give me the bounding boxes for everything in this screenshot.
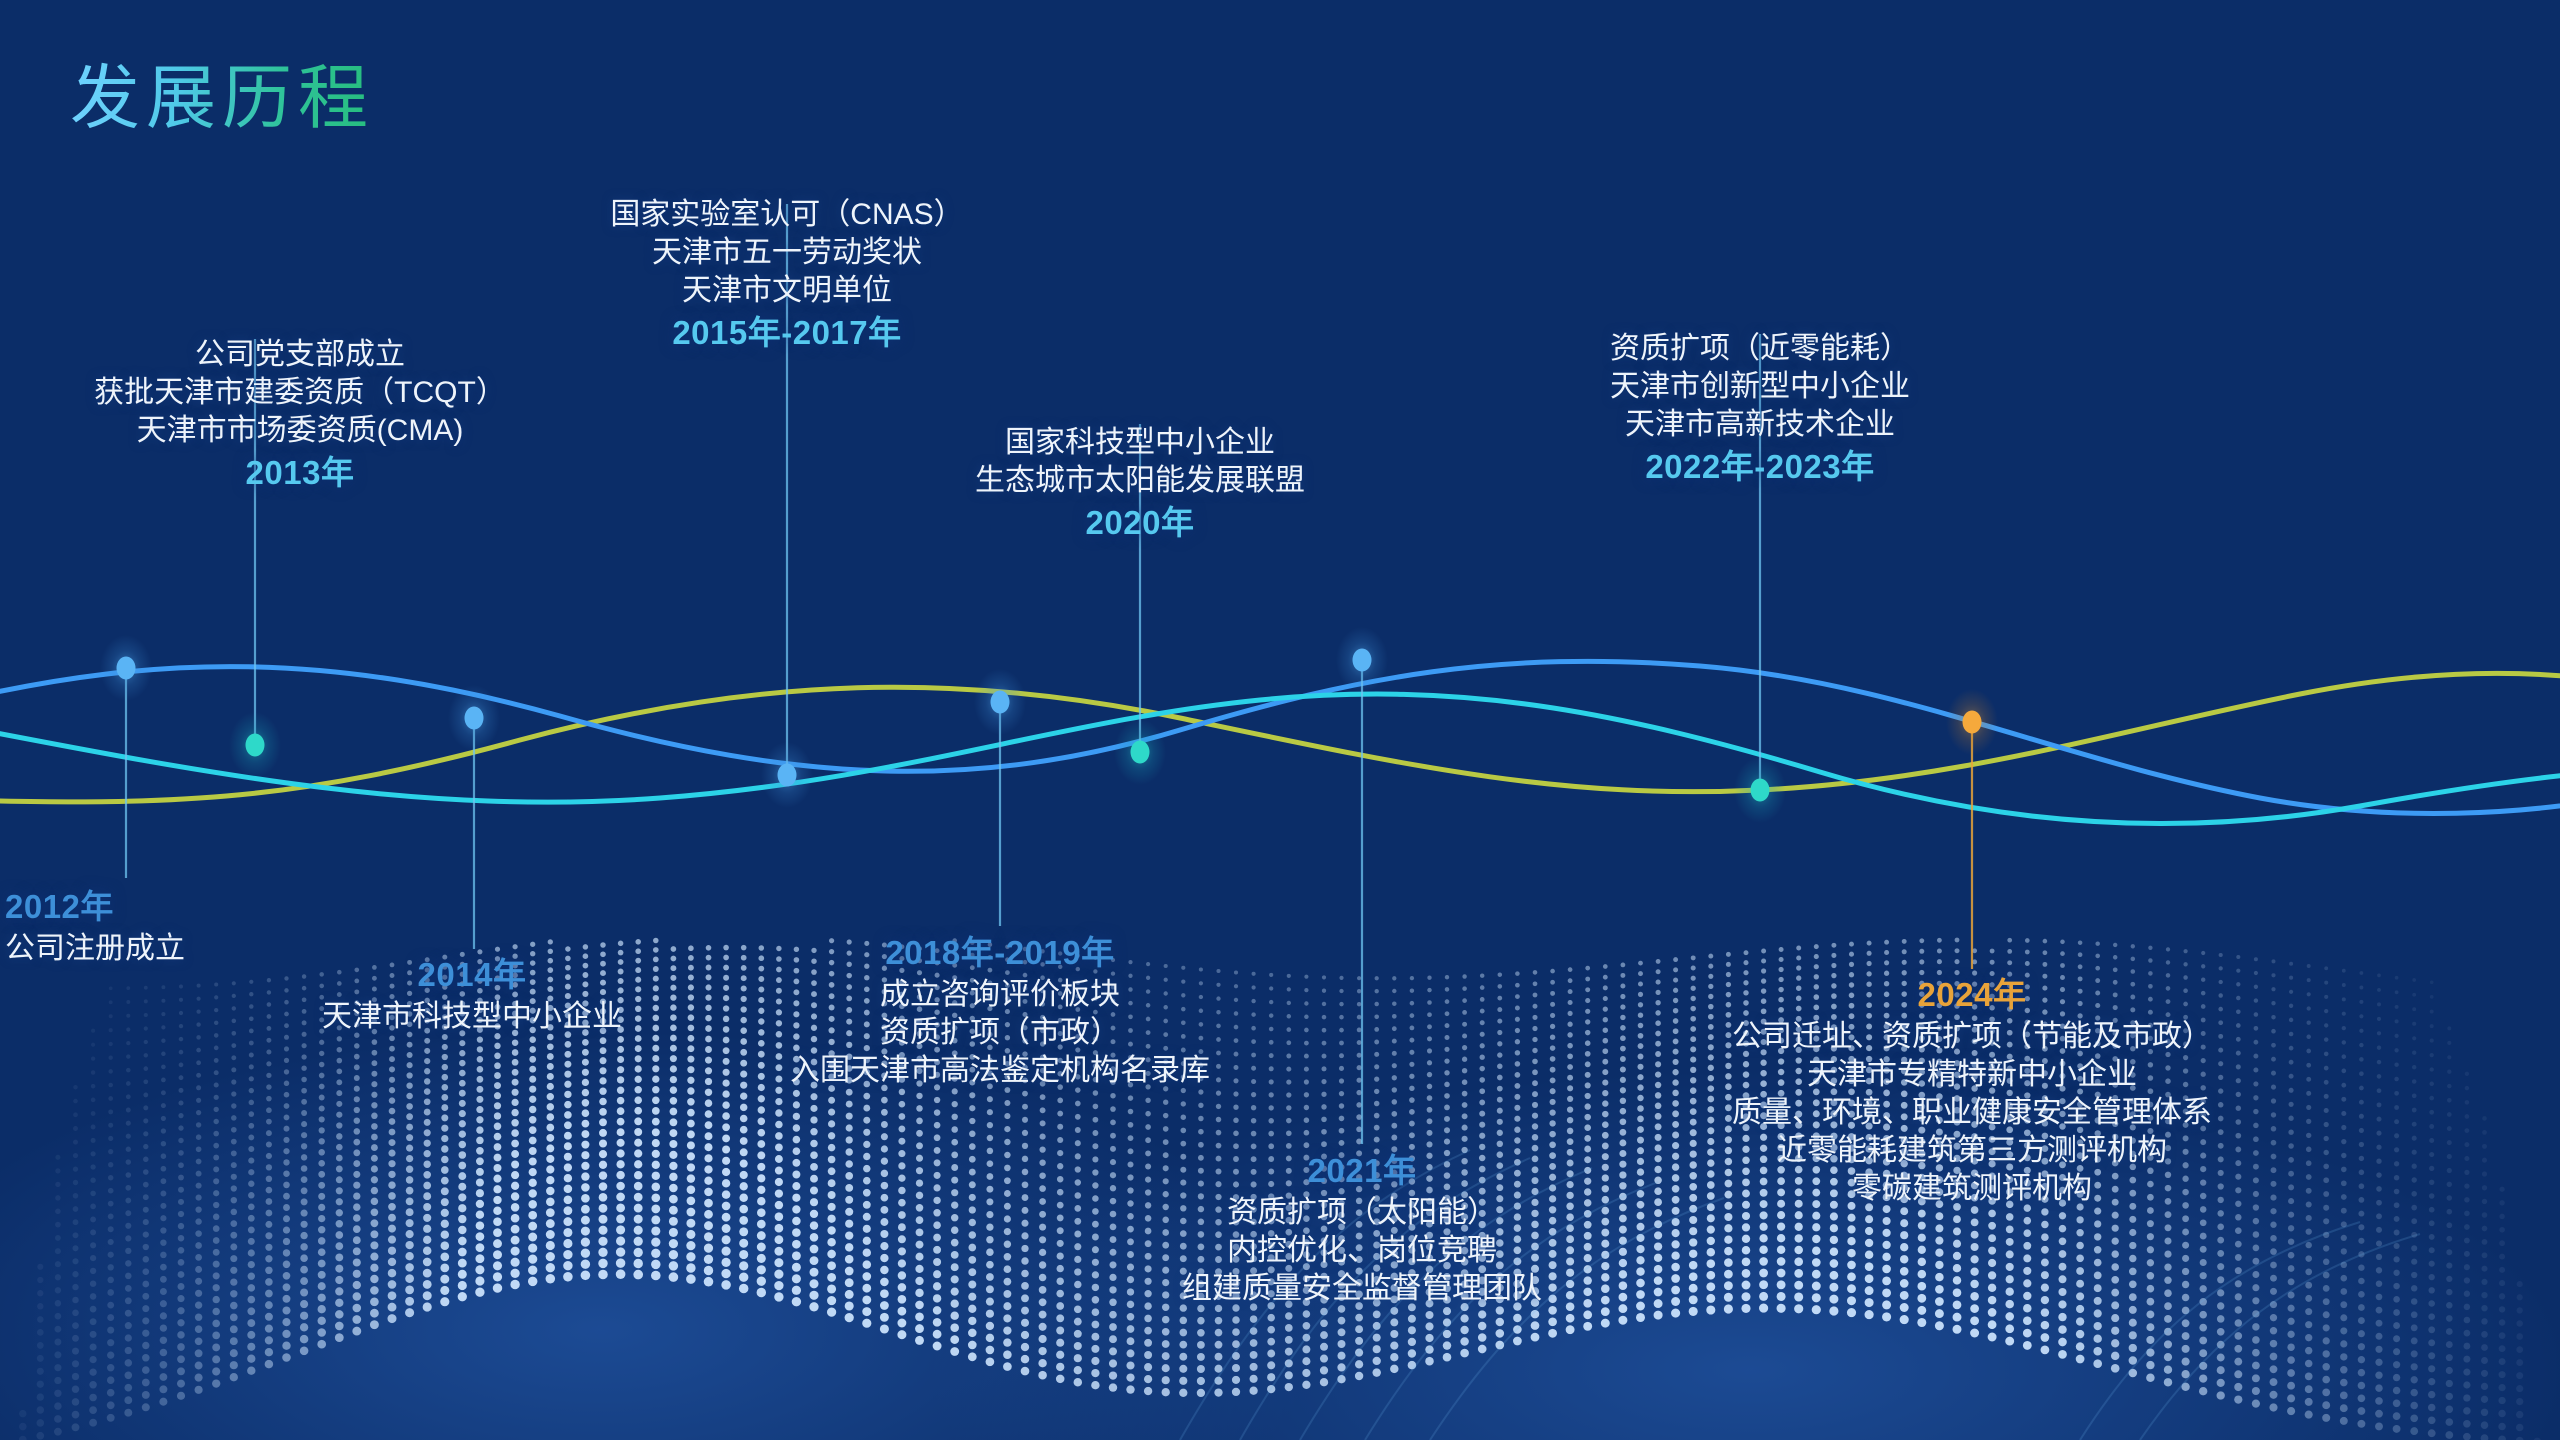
milestone-year-2012: 2012年 (5, 884, 345, 930)
milestone-line: 天津市创新型中小企业 (1480, 368, 2040, 406)
milestone-year-2014: 2014年 (192, 952, 752, 998)
milestone-line: 天津市文明单位 (467, 272, 1107, 310)
milestone-year-2024: 2024年 (1562, 972, 2382, 1018)
milestone-year-2013: 2013年 (10, 450, 590, 496)
milestone-line: 质量、环境、职业健康安全管理体系 (1562, 1094, 2382, 1132)
milestone-line: 组建质量安全监督管理团队 (1052, 1270, 1672, 1308)
milestone-line: 天津市专精特新中小企业 (1562, 1056, 2382, 1094)
milestone-line: 公司迁址、资质扩项（节能及市政） (1562, 1018, 2382, 1056)
page-title: 发展历程 (70, 42, 374, 143)
milestone-line: 获批天津市建委资质（TCQT） (10, 374, 590, 412)
milestone-line: 入围天津市高法鉴定机构名录库 (680, 1052, 1320, 1090)
milestone-2022-2023[interactable]: 资质扩项（近零能耗）天津市创新型中小企业天津市高新技术企业2022年-2023年 (1480, 330, 2040, 490)
milestone-2024[interactable]: 2024年公司迁址、资质扩项（节能及市政）天津市专精特新中小企业质量、环境、职业… (1562, 972, 2382, 1208)
milestone-line: 天津市五一劳动奖状 (467, 234, 1107, 272)
milestone-2015-2017[interactable]: 国家实验室认可（CNAS）天津市五一劳动奖状天津市文明单位2015年-2017年 (467, 196, 1107, 356)
milestone-line: 资质扩项（近零能耗） (1480, 330, 2040, 368)
milestone-year-2018-2019: 2018年-2019年 (680, 930, 1320, 976)
milestone-line: 天津市市场委资质(CMA) (10, 412, 590, 450)
milestone-line: 生态城市太阳能发展联盟 (830, 462, 1450, 500)
milestone-2014[interactable]: 2014年天津市科技型中小企业 (192, 952, 752, 1036)
milestone-2020[interactable]: 国家科技型中小企业生态城市太阳能发展联盟2020年 (830, 424, 1450, 546)
milestone-2013[interactable]: 公司党支部成立获批天津市建委资质（TCQT）天津市市场委资质(CMA)2013年 (10, 336, 590, 496)
milestone-line: 国家科技型中小企业 (830, 424, 1450, 462)
milestone-year-2022-2023: 2022年-2023年 (1480, 444, 2040, 490)
timeline-slide: 发展历程 2012年公司注册成立公司党支部成立获批天津市建委资质（TCQT）天津… (0, 0, 2560, 1440)
milestone-line: 成立咨询评价板块 (680, 976, 1320, 1014)
milestone-2018-2019[interactable]: 2018年-2019年成立咨询评价板块资质扩项（市政）入围天津市高法鉴定机构名录… (680, 930, 1320, 1090)
milestone-year-2020: 2020年 (830, 500, 1450, 546)
milestone-line: 国家实验室认可（CNAS） (467, 196, 1107, 234)
milestone-line: 内控优化、岗位竞聘 (1052, 1232, 1672, 1270)
milestone-year-2015-2017: 2015年-2017年 (467, 310, 1107, 356)
milestone-line: 资质扩项（市政） (680, 1014, 1320, 1052)
milestone-line: 近零能耗建筑第三方测评机构 (1562, 1132, 2382, 1170)
milestone-line: 零碳建筑测评机构 (1562, 1170, 2382, 1208)
milestone-line: 天津市科技型中小企业 (192, 998, 752, 1036)
milestone-line: 天津市高新技术企业 (1480, 406, 2040, 444)
